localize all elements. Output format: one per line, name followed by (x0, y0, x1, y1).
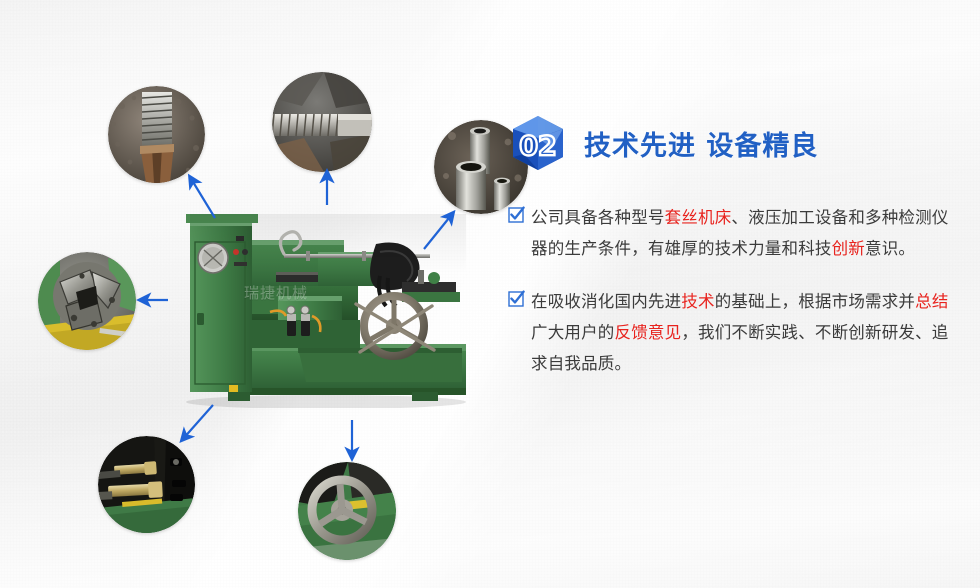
highlighted-phrase: 套丝机床 (665, 208, 732, 227)
plain-phrase: 广大用户的 (531, 323, 615, 342)
badge-number-text: 02 (519, 131, 557, 162)
detail-photo-threaded-rod-end[interactable] (108, 86, 205, 183)
checkbox-checked-icon (508, 290, 525, 307)
highlighted-phrase: 反馈意见 (615, 323, 682, 342)
checkbox-checked-icon (508, 206, 525, 223)
highlighted-phrase: 总结 (915, 292, 948, 311)
highlighted-phrase: 技术 (681, 292, 714, 311)
detail-photo-chuck-jaws[interactable] (38, 252, 136, 350)
bullet-item-2: 在吸收消化国内先进技术的基础上，根据市场需求并总结广大用户的反馈意见，我们不断实… (508, 286, 954, 379)
detail-photo-handwheel[interactable] (298, 462, 396, 560)
bullet-text-1: 公司具备各种型号套丝机床、液压加工设备和多种检测仪器的生产条件，有雄厚的技术力量… (531, 202, 954, 264)
product-image-threading-machine: 瑞捷机械 (166, 196, 486, 408)
section-header: 02 技术先进 设备精良 (508, 110, 954, 176)
section-number-badge: 02 (508, 114, 568, 172)
section-title: 技术先进 设备精良 (584, 124, 818, 163)
detail-photo-hydraulic-fittings[interactable] (98, 436, 195, 533)
highlighted-phrase: 创新 (832, 239, 865, 258)
promo-banner: 瑞捷机械 (0, 0, 980, 588)
bullet-list: 公司具备各种型号套丝机床、液压加工设备和多种检测仪器的生产条件，有雄厚的技术力量… (508, 202, 954, 379)
plain-phrase: 的基础上，根据市场需求并 (715, 292, 915, 311)
bullet-text-2: 在吸收消化国内先进技术的基础上，根据市场需求并总结广大用户的反馈意见，我们不断实… (531, 286, 954, 379)
arrow-to-hydraulic-fittings (182, 405, 213, 440)
plain-phrase: 意识。 (865, 239, 915, 258)
detail-photo-threaded-bar[interactable] (272, 72, 372, 172)
plain-phrase: 公司具备各种型号 (531, 208, 665, 227)
product-watermark: 瑞捷机械 (244, 282, 344, 303)
bullet-item-1: 公司具备各种型号套丝机床、液压加工设备和多种检测仪器的生产条件，有雄厚的技术力量… (508, 202, 954, 264)
content-panel: 02 技术先进 设备精良 公司具备各种型号套丝机床、液压加工设备和多种检测仪器的… (508, 110, 954, 401)
plain-phrase: 在吸收消化国内先进 (531, 292, 681, 311)
